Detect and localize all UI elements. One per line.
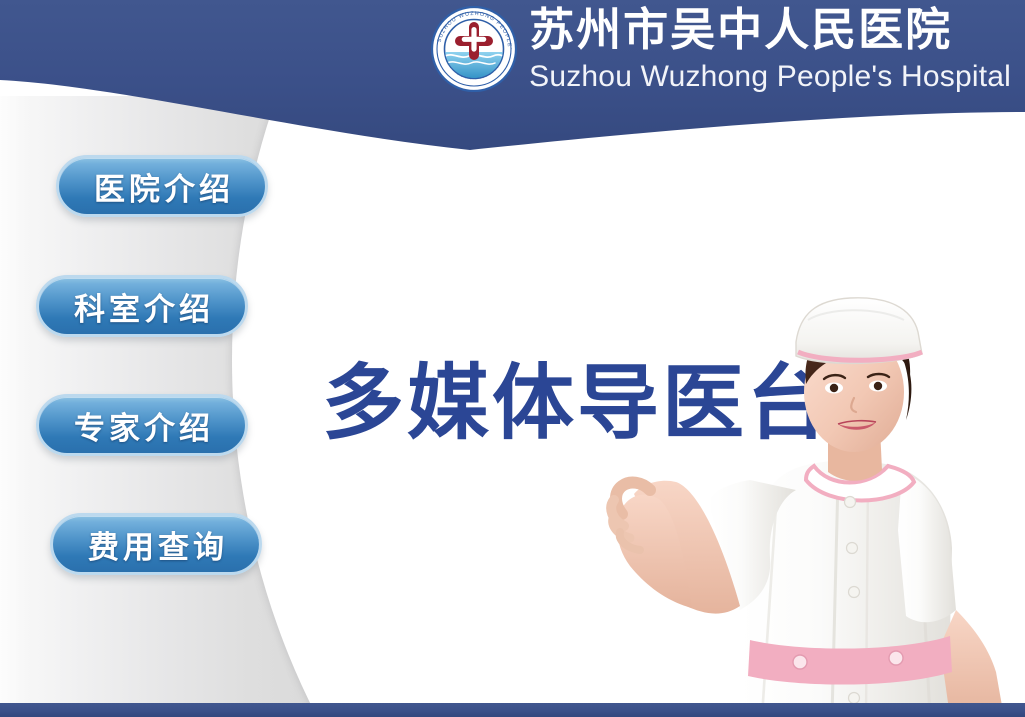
- kiosk-screen: SUZHOU WUZHONG PEOPLE'S HOSPITAL 苏州市吴中人民…: [0, 0, 1025, 717]
- hospital-brand: 苏州市吴中人民医院 Suzhou Wuzhong People's Hospit…: [529, 2, 1011, 96]
- menu-item-label: 费用查询: [84, 522, 228, 567]
- main-menu: 医院介绍 科室介绍 专家介绍 费用查询: [0, 0, 300, 717]
- menu-item-hospital-intro[interactable]: 医院介绍: [56, 155, 268, 217]
- hospital-name-cn: 苏州市吴中人民医院: [529, 2, 952, 58]
- menu-item-label: 医院介绍: [90, 164, 234, 209]
- menu-item-label: 科室介绍: [70, 284, 214, 329]
- footer-bar: [0, 703, 1025, 717]
- hospital-name-en: Suzhou Wuzhong People's Hospital: [529, 58, 1011, 96]
- menu-item-department-intro[interactable]: 科室介绍: [36, 275, 248, 337]
- menu-item-expert-intro[interactable]: 专家介绍: [36, 394, 248, 456]
- hospital-logo-icon: SUZHOU WUZHONG PEOPLE'S HOSPITAL 苏州市吴中人民…: [431, 6, 517, 92]
- page-title: 多媒体导医台: [322, 358, 832, 450]
- menu-item-label: 专家介绍: [70, 403, 214, 448]
- menu-item-fee-inquiry[interactable]: 费用查询: [50, 513, 262, 575]
